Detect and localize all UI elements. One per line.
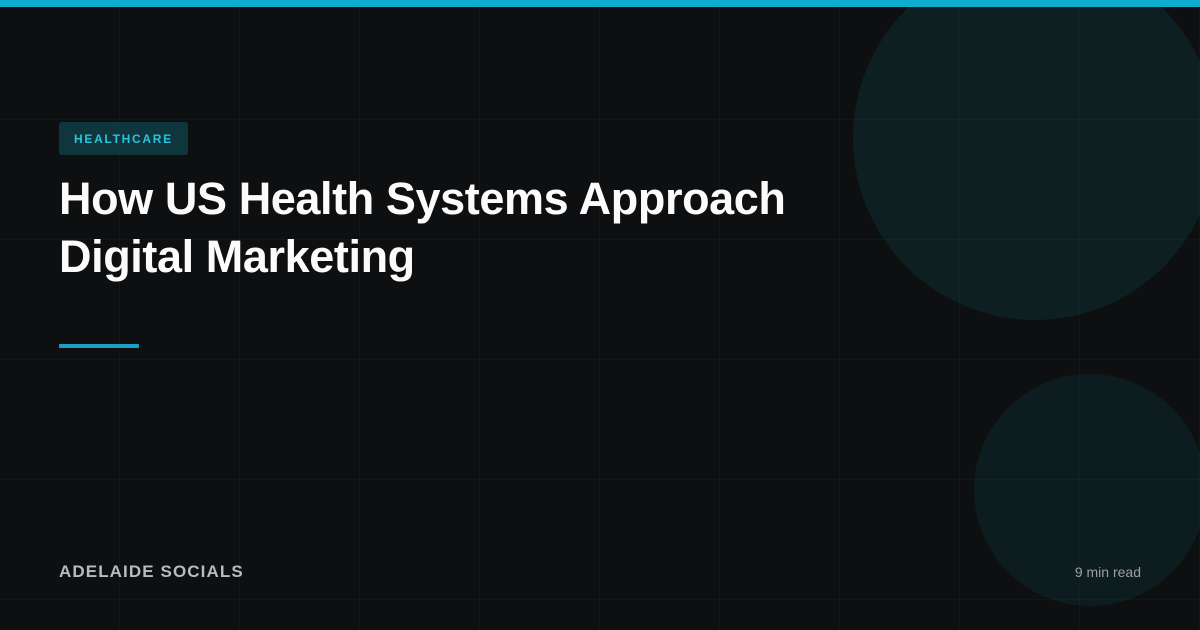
footer-brand-name: ADELAIDE SOCIALS <box>59 563 244 580</box>
social-share-card: HEALTHCARE How US Health Systems Approac… <box>0 0 1200 630</box>
footer-read-time: 9 min read <box>1075 565 1141 579</box>
page-title: How US Health Systems Approach Digital M… <box>59 170 819 286</box>
accent-divider <box>59 344 139 348</box>
category-badge-label: HEALTHCARE <box>74 133 173 145</box>
category-badge[interactable]: HEALTHCARE <box>59 122 188 155</box>
card-content: HEALTHCARE How US Health Systems Approac… <box>0 0 1200 630</box>
top-accent-bar <box>0 0 1200 7</box>
